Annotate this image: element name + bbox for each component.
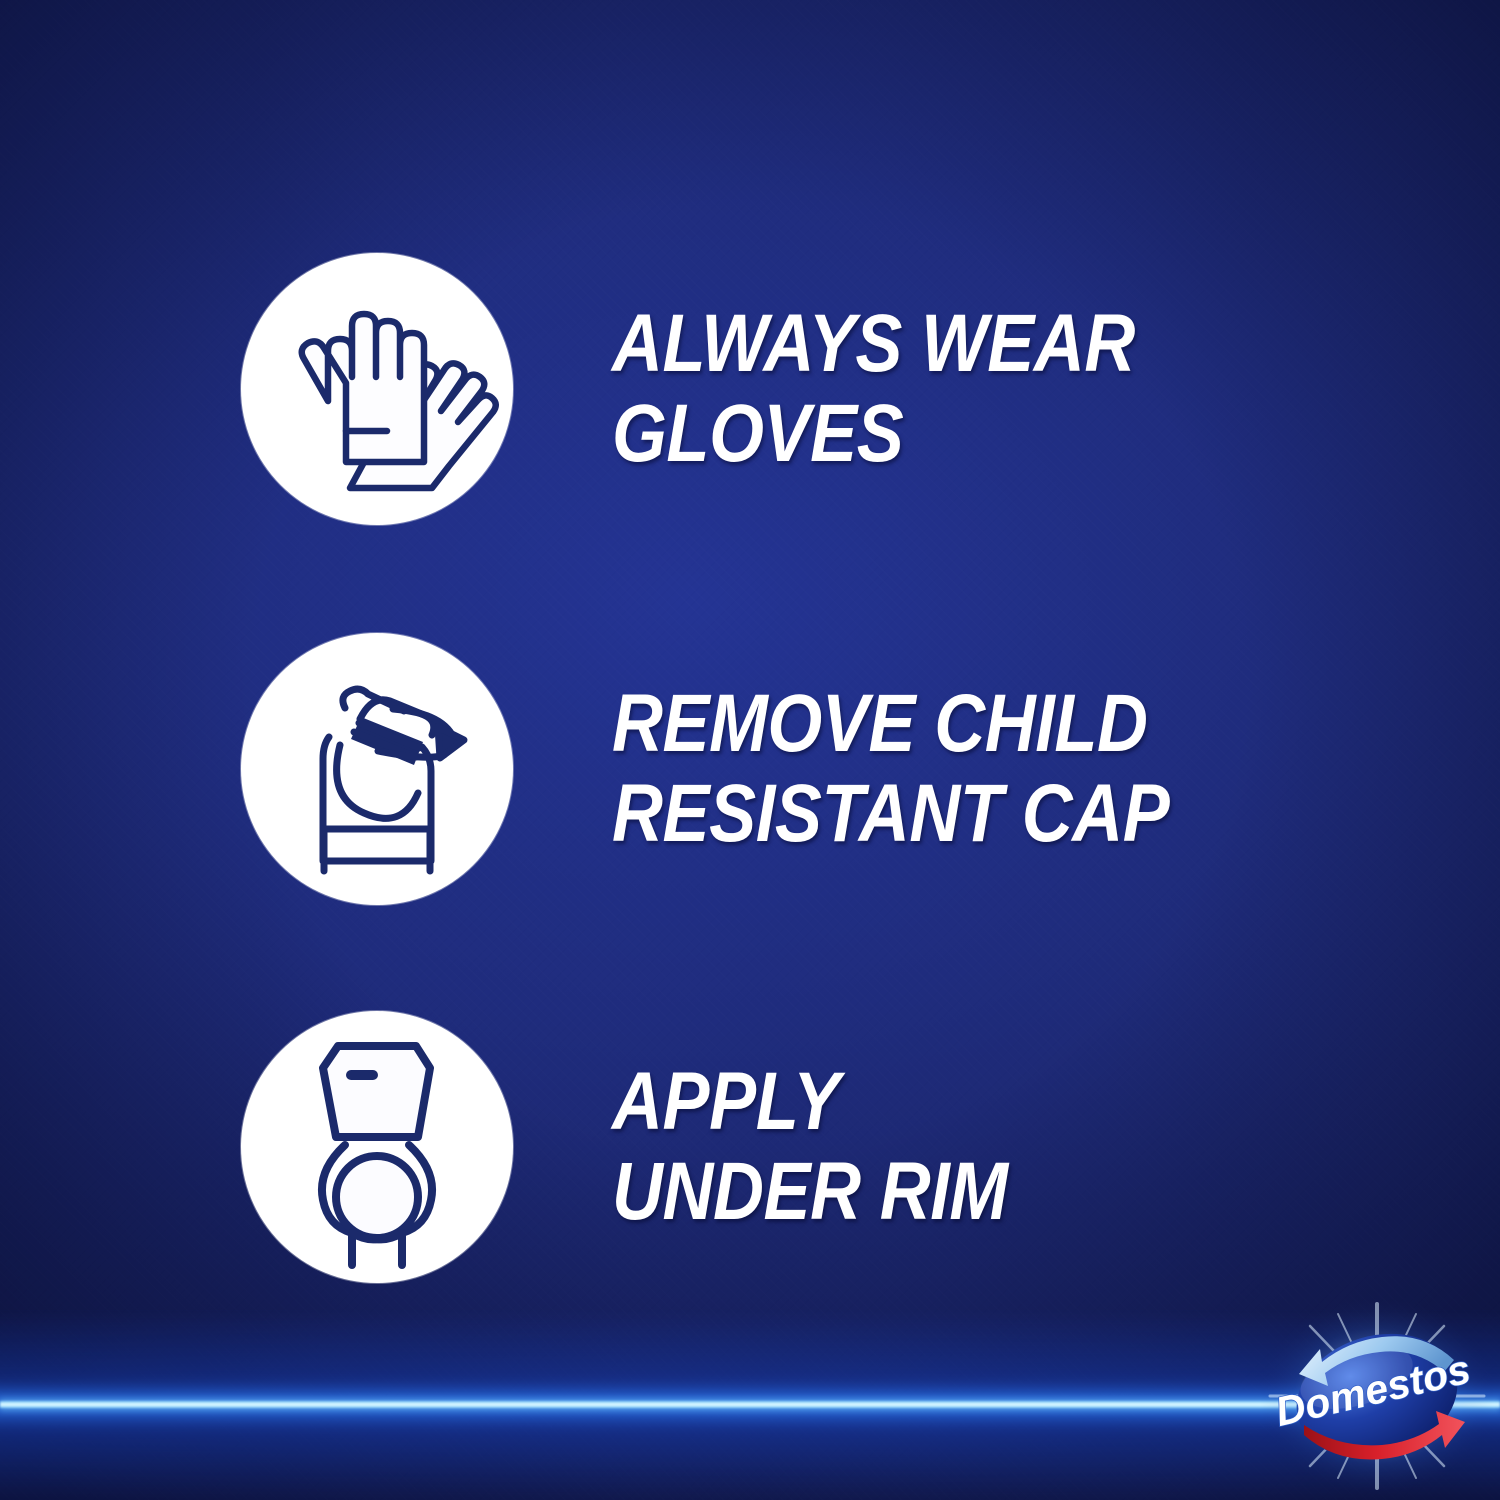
step-row-toilet: APPLY UNDER RIM — [0, 1011, 1500, 1283]
gloves-icon — [241, 253, 513, 525]
child-resistant-cap-icon — [241, 633, 513, 905]
domestos-logo-graphic: Domestos — [1258, 1296, 1496, 1496]
step-row-cap: REMOVE CHILD RESISTANT CAP — [0, 633, 1500, 905]
toilet-icon — [241, 1011, 513, 1283]
step-row-gloves: ALWAYS WEAR GLOVES — [0, 253, 1500, 525]
instruction-poster: ALWAYS WEAR GLOVES — [0, 0, 1500, 1500]
step-label-gloves: ALWAYS WEAR GLOVES — [612, 299, 1341, 479]
step-label-toilet: APPLY UNDER RIM — [612, 1057, 1341, 1237]
cap-icon-circle — [241, 633, 513, 905]
gloves-icon-circle — [241, 253, 513, 525]
step-label-cap: REMOVE CHILD RESISTANT CAP — [612, 679, 1341, 859]
domestos-logo: Domestos — [1258, 1296, 1496, 1496]
toilet-icon-circle — [241, 1011, 513, 1283]
